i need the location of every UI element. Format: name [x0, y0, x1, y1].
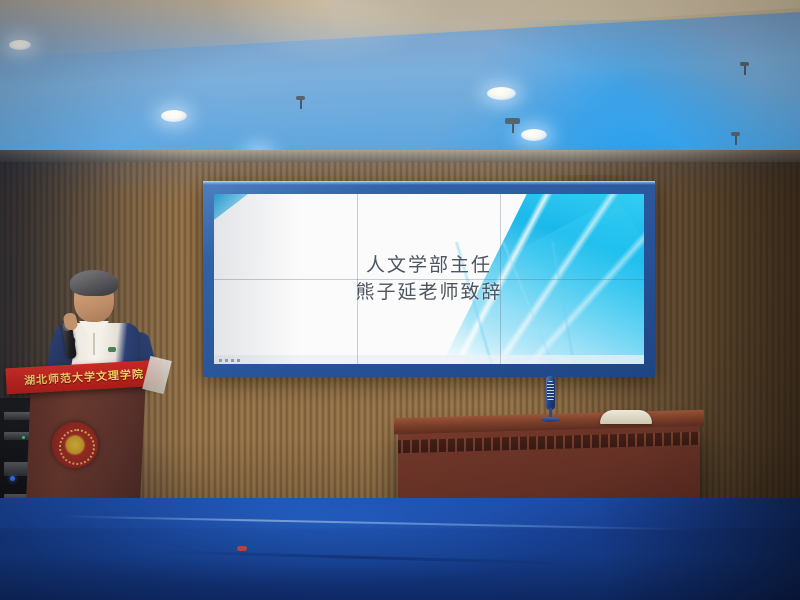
shirt-logo-icon [108, 347, 116, 352]
downlight-icon [487, 87, 516, 100]
photo-scene: 人文学部主任 熊子延老师致辞 [0, 0, 800, 600]
panel-seam-horizontal [214, 279, 644, 280]
downlight-icon [9, 40, 31, 50]
sprinkler-icon [740, 62, 749, 75]
conference-microphone-icon [546, 376, 555, 420]
ceiling-speaker-icon [505, 118, 520, 133]
speaker-hair [70, 270, 118, 296]
downlight-icon [161, 110, 187, 122]
floor-carpet-crease [150, 550, 580, 565]
taskbar-icons [219, 359, 240, 362]
sprinkler-icon [296, 96, 305, 109]
slide-taskbar [214, 355, 644, 364]
rack-led-green [22, 436, 25, 439]
university-crest-icon [52, 422, 98, 468]
speaker-placket [93, 333, 95, 355]
downlight-icon [521, 129, 547, 141]
slide-title-line-2: 熊子延老师致辞 [214, 279, 644, 306]
slide-title-line-1: 人文学部主任 [214, 252, 644, 279]
slide-corner-accent [214, 194, 248, 220]
floor-red-object [237, 546, 247, 551]
nameplate [600, 410, 652, 424]
video-wall-frame[interactable]: 人文学部主任 熊子延老师致辞 [203, 181, 655, 377]
crest-ring [59, 429, 95, 465]
sprinkler-icon [731, 132, 740, 145]
rack-led-blue [10, 476, 15, 481]
ceiling-glow [180, 0, 480, 120]
table-greek-key-trim [398, 432, 700, 453]
floor-shadow-right [600, 498, 800, 600]
video-wall-screen[interactable]: 人文学部主任 熊子延老师致辞 [214, 194, 644, 364]
